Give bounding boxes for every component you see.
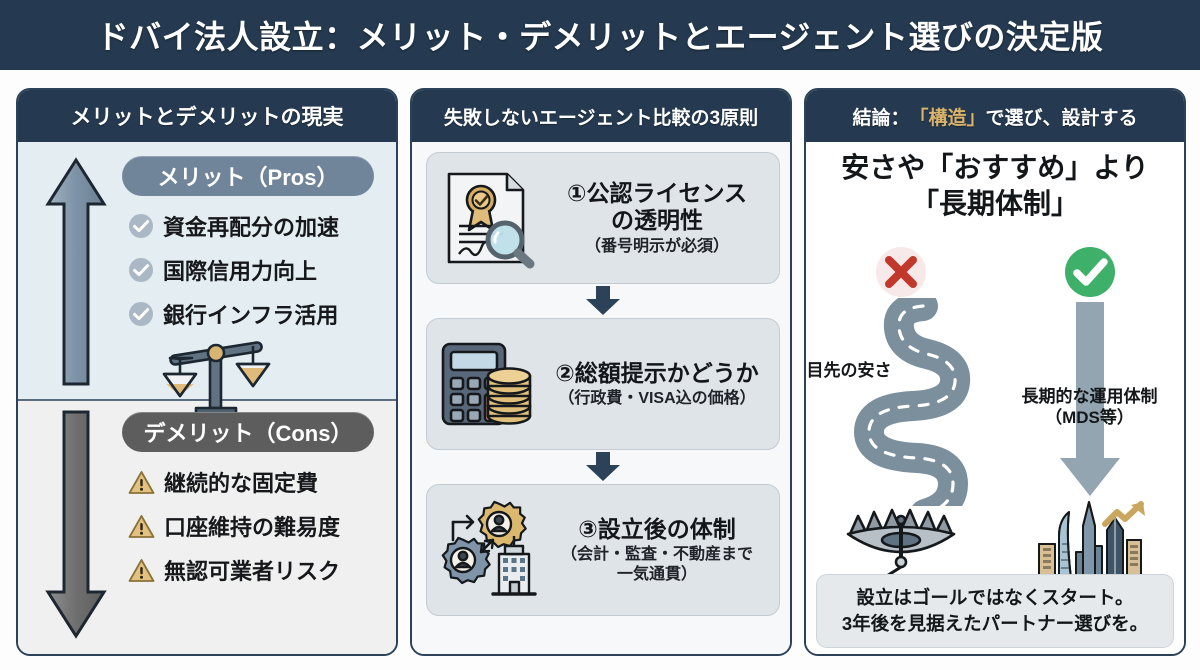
column3-header: 結論：「構造」で選び、設計する — [806, 90, 1184, 142]
list-item: 国際信用力向上 — [128, 248, 339, 292]
cons-pill-label: デメリット（Cons） — [143, 416, 352, 448]
column-pros-cons: メリットとデメリットの現実 — [16, 88, 398, 656]
criteria-step-1: ①公認ライセンス の透明性 （番号明示が必須） — [426, 152, 780, 284]
license-certificate-magnifier-icon — [433, 164, 541, 272]
green-check-circle-icon — [1064, 246, 1116, 298]
gears-people-building-icon — [433, 496, 541, 604]
check-circle-icon — [128, 301, 154, 327]
column2-header: 失敗しないエージェント比較の3原則 — [412, 90, 790, 142]
conclusion-footer: 設立はゴールではなくスタート。 3年後を見据えたパートナー選びを。 — [816, 574, 1174, 648]
good-path-label: 長期的な運用体制 （MDS等） — [1002, 386, 1178, 429]
criteria-step-2-title: ②総額提示かどうか — [541, 360, 773, 387]
title-bar: ドバイ法人設立：メリット・デメリットとエージェント選びの決定版 — [0, 0, 1200, 70]
list-item-label: 資金再配分の加速 — [163, 210, 339, 242]
criteria-step-3-text: ③設立後の体制 （会計・監査・不動産まで 一気通貫） — [541, 516, 779, 584]
criteria-step-3-sub: （会計・監査・不動産まで 一気通貫） — [541, 545, 773, 583]
list-item-label: 継続的な固定費 — [164, 466, 318, 498]
calculator-coins-icon — [433, 330, 541, 438]
infographic-page: ドバイ法人設立：メリット・デメリットとエージェント選びの決定版 メリットとデメリ… — [0, 0, 1200, 670]
column-conclusion: 結論：「構造」で選び、設計する 安さや「おすすめ」より 「長期体制」 — [804, 88, 1186, 656]
list-item: 無認可業者リスク — [128, 548, 340, 592]
bad-path-label: 目先の安さ — [807, 360, 892, 381]
criteria-step-1-title: ①公認ライセンス の透明性 — [541, 180, 773, 234]
list-item-label: 国際信用力向上 — [163, 254, 317, 286]
pros-pill-label: メリット（Pros） — [158, 160, 339, 192]
cons-pill: デメリット（Cons） — [122, 412, 374, 452]
list-item: 口座維持の難易度 — [128, 504, 340, 548]
criteria-step-2-text: ②総額提示かどうか （行政費・VISA込の価格） — [541, 360, 779, 408]
criteria-step-1-sub: （番号明示が必須） — [541, 237, 773, 256]
balance-scale-icon — [158, 326, 276, 426]
down-arrow-icon — [584, 286, 622, 316]
arrow-down-icon — [44, 408, 108, 640]
pros-list: 資金再配分の加速 国際信用力向上 銀行イ — [128, 204, 339, 336]
arrow-up-icon — [44, 156, 108, 388]
winding-road-icon — [811, 298, 991, 506]
cons-list: 継続的な固定費 口座維持の難易度 — [128, 460, 340, 592]
warning-triangle-icon — [128, 470, 155, 495]
criteria-step-3: ③設立後の体制 （会計・監査・不動産まで 一気通貫） — [426, 484, 780, 616]
criteria-step-2-sub: （行政費・VISA込の価格） — [541, 389, 773, 408]
winding-road-visual: 目先の安さ — [811, 298, 991, 506]
warning-triangle-icon — [128, 558, 155, 583]
good-path-branch: 長期的な運用体制 （MDS等） — [995, 246, 1184, 611]
page-title: ドバイ法人設立：メリット・デメリットとエージェント選びの決定版 — [97, 12, 1104, 58]
down-arrow-icon — [584, 452, 622, 482]
criteria-step-3-title: ③設立後の体制 — [541, 516, 773, 543]
criteria-step-2: ②総額提示かどうか （行政費・VISA込の価格） — [426, 318, 780, 450]
flow-connector-2 — [426, 450, 780, 484]
flow-connector-1 — [426, 284, 780, 318]
column1-body: メリット（Pros） 資金再配分の加速 — [18, 142, 396, 656]
column3-header-prefix: 結論： — [852, 103, 909, 130]
list-item: 継続的な固定費 — [128, 460, 340, 504]
column3-header-suffix: で選び、設計する — [986, 103, 1138, 130]
red-x-circle-icon — [875, 246, 927, 298]
footer-line-2: 3年後を見据えたパートナー選びを。 — [842, 611, 1148, 637]
straight-path-visual: 長期的な運用体制 （MDS等） — [1000, 298, 1180, 506]
list-item-label: 口座維持の難易度 — [164, 510, 340, 542]
pros-pill: メリット（Pros） — [122, 156, 374, 196]
column3-body: 安さや「おすすめ」より 「長期体制」 目先の安さ — [806, 142, 1184, 656]
column2-body: ①公認ライセンス の透明性 （番号明示が必須） — [412, 142, 790, 656]
conclusion-headline: 安さや「おすすめ」より 「長期体制」 — [806, 150, 1184, 222]
check-circle-icon — [128, 213, 154, 239]
list-item: 資金再配分の加速 — [128, 204, 339, 248]
criteria-step-1-text: ①公認ライセンス の透明性 （番号明示が必須） — [541, 180, 779, 255]
column1-header: メリットとデメリットの現実 — [18, 90, 396, 142]
footer-line-1: 設立はゴールではなくスタート。 — [856, 585, 1133, 611]
column-agent-criteria: 失敗しないエージェント比較の3原則 — [410, 88, 792, 656]
warning-triangle-icon — [128, 514, 155, 539]
check-circle-icon — [128, 257, 154, 283]
columns-container: メリットとデメリットの現実 — [0, 78, 1200, 666]
column3-header-highlight: 「構造」 — [909, 103, 985, 130]
list-item-label: 無認可業者リスク — [164, 554, 340, 586]
